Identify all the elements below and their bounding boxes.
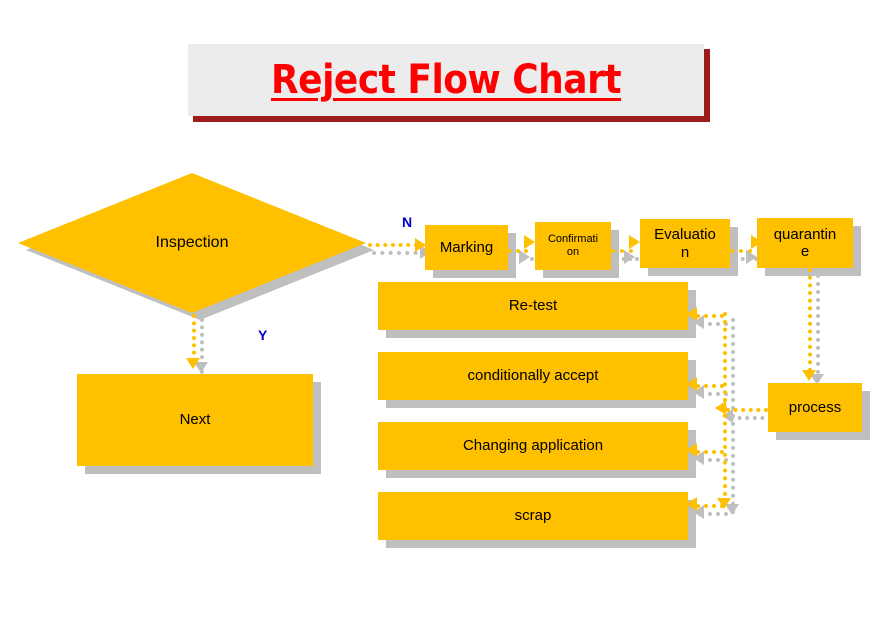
node-retest-label: Re-test xyxy=(509,297,557,314)
node-retest[interactable]: Re-test xyxy=(378,282,688,330)
node-cond-accept[interactable]: conditionally accept xyxy=(378,352,688,400)
edge-process-trunk xyxy=(726,408,768,412)
edge-trunk-cond-accept xyxy=(696,384,724,388)
node-process-label: process xyxy=(789,399,842,416)
edge-marking-confirmation xyxy=(508,249,528,253)
edge-inspection-next xyxy=(192,314,196,362)
node-quarantine[interactable]: quarantin e xyxy=(757,218,853,268)
edge-process-trunk-arrowhead xyxy=(715,401,726,415)
node-next-label: Next xyxy=(180,411,211,428)
edge-trunk-retest xyxy=(696,314,724,318)
node-next[interactable]: Next xyxy=(77,374,313,466)
node-quarantine-label-line1: quarantin xyxy=(774,226,837,243)
node-evaluation-label-line2: n xyxy=(681,244,689,261)
edge-confirmation-evaluation xyxy=(611,249,633,253)
edge-quarantine-process xyxy=(808,268,812,372)
edge-label-yes: Y xyxy=(258,327,267,343)
node-changing-app-label: Changing application xyxy=(463,437,603,454)
distribution-trunk-arrowhead xyxy=(717,498,731,509)
edge-label-no: N xyxy=(402,214,412,230)
edge-marking-confirmation-arrowhead xyxy=(524,235,535,249)
node-marking[interactable]: Marking xyxy=(425,225,508,270)
edge-process-trunk-shadow xyxy=(730,416,772,420)
node-quarantine-label-line2: e xyxy=(801,243,809,260)
page-title: Reject Flow Chart xyxy=(188,44,704,116)
node-inspection-label: Inspection xyxy=(156,234,229,252)
edge-trunk-scrap-shadow xyxy=(700,512,728,516)
title-banner-shadow-right xyxy=(704,49,710,121)
title-banner-shadow-bottom xyxy=(193,116,710,122)
edge-trunk-changing-app xyxy=(696,450,724,454)
node-changing-app[interactable]: Changing application xyxy=(378,422,688,470)
edge-trunk-scrap-arrowhead xyxy=(686,497,697,511)
edge-evaluation-quarantine xyxy=(730,249,752,253)
edge-confirmation-evaluation-arrowhead xyxy=(629,235,640,249)
edge-inspection-next-arrowhead xyxy=(186,358,200,369)
edge-trunk-changing-app-arrowhead xyxy=(686,443,697,457)
node-confirmation[interactable]: Confirmati on xyxy=(535,222,611,270)
node-evaluation[interactable]: Evaluatio n xyxy=(640,219,730,268)
edge-quarantine-process-shadow xyxy=(816,274,820,382)
node-process[interactable]: process xyxy=(768,383,862,432)
distribution-trunk-shadow xyxy=(731,318,735,514)
node-confirmation-label-line1: Confirmati xyxy=(548,233,598,246)
node-scrap-label: scrap xyxy=(515,507,552,524)
node-marking-label: Marking xyxy=(440,239,493,256)
node-confirmation-label-line2: on xyxy=(567,246,579,259)
edge-quarantine-process-arrowhead xyxy=(802,370,816,381)
edge-trunk-cond-accept-arrowhead xyxy=(686,377,697,391)
node-inspection[interactable]: Inspection xyxy=(18,173,366,313)
edge-inspection-marking xyxy=(368,243,418,247)
node-cond-accept-label: conditionally accept xyxy=(468,367,599,384)
flowchart-canvas: Reject Flow Chart Inspection Next Y N Ma… xyxy=(0,0,877,620)
edge-trunk-retest-arrowhead xyxy=(686,307,697,321)
node-scrap[interactable]: scrap xyxy=(378,492,688,540)
node-evaluation-label-line1: Evaluatio xyxy=(654,226,716,243)
